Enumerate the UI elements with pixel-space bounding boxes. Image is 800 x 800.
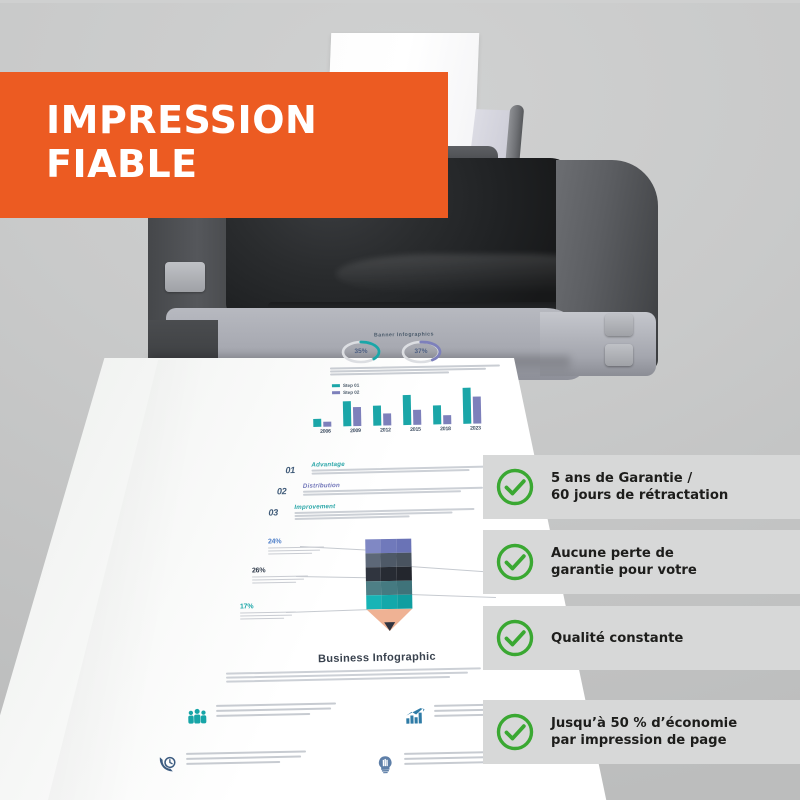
feature-card-4-line-2: par impression de page xyxy=(551,732,737,749)
top-edge-line xyxy=(0,0,800,3)
feature-card-2[interactable]: Aucune perte de garantie pour votre xyxy=(483,530,800,594)
check-circle-icon xyxy=(495,618,535,658)
feature-card-3-line-1: Qualité constante xyxy=(551,630,683,647)
feature-card-2-line-2: garantie pour votre xyxy=(551,562,697,579)
printer-side-button-top[interactable] xyxy=(605,314,633,336)
feature-card-3-text: Qualité constante xyxy=(551,630,683,647)
poster-canvas: Banner Infographics 35% 37% Step 01 xyxy=(0,0,800,800)
check-circle-icon xyxy=(495,467,535,507)
feature-card-2-text: Aucune perte de garantie pour votre xyxy=(551,545,697,579)
feature-card-4-text: Jusqu’à 50 % d’économie par impression d… xyxy=(551,715,737,749)
check-circle-icon xyxy=(495,542,535,582)
headline-line-2: FIABLE xyxy=(46,142,317,186)
feature-card-2-line-1: Aucune perte de xyxy=(551,545,697,562)
feature-card-1[interactable]: 5 ans de Garantie / 60 jours de rétracta… xyxy=(483,455,800,519)
feature-card-4-line-1: Jusqu’à 50 % d’économie xyxy=(551,715,737,732)
feature-card-1-text: 5 ans de Garantie / 60 jours de rétracta… xyxy=(551,470,728,504)
feature-card-1-line-1: 5 ans de Garantie / xyxy=(551,470,728,487)
check-circle-icon xyxy=(495,712,535,752)
page-title: IMPRESSION FIABLE xyxy=(46,98,317,186)
printer-side-button-bottom[interactable] xyxy=(605,344,633,366)
printer-power-button[interactable] xyxy=(165,262,205,292)
feature-card-4[interactable]: Jusqu’à 50 % d’économie par impression d… xyxy=(483,700,800,764)
feature-card-3[interactable]: Qualité constante xyxy=(483,606,800,670)
feature-card-1-line-2: 60 jours de rétractation xyxy=(551,487,728,504)
headline-line-1: IMPRESSION xyxy=(46,98,317,142)
headline-banner: IMPRESSION FIABLE xyxy=(0,72,448,218)
